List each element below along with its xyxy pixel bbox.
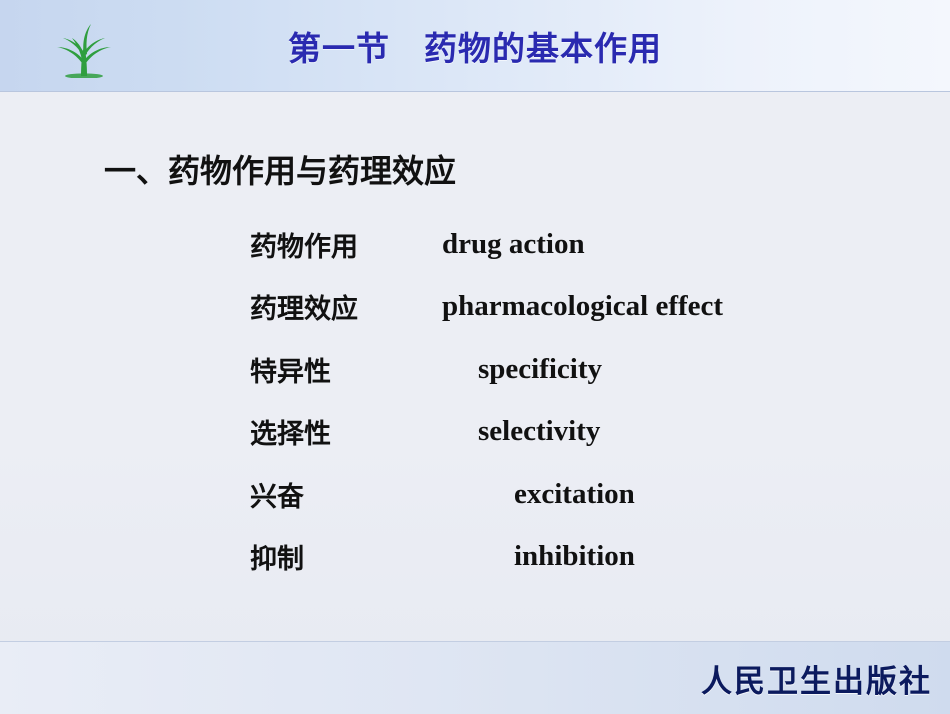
- slide-footer: 人民卫生出版社: [0, 641, 950, 714]
- term-row: 药理效应pharmacological effect: [250, 276, 890, 339]
- term-row: 药物作用drug action: [250, 213, 890, 276]
- term-chinese: 药物作用: [250, 225, 358, 264]
- term-english: inhibition: [514, 540, 635, 573]
- term-chinese: 抑制: [250, 537, 304, 576]
- slide: 第一节 药物的基本作用 一、药物作用与药理效应 药物作用drug action药…: [0, 0, 950, 713]
- term-chinese: 药理效应: [250, 287, 358, 326]
- term-row: 兴奋excitation: [250, 463, 890, 526]
- term-english: drug action: [442, 228, 585, 261]
- section-heading: 一、药物作用与药理效应: [104, 146, 456, 192]
- term-row: 抑制inhibition: [250, 526, 890, 589]
- term-chinese: 选择性: [250, 412, 331, 451]
- term-chinese: 兴奋: [250, 475, 304, 514]
- term-list: 药物作用drug action药理效应pharmacological effec…: [250, 213, 890, 588]
- term-row: 选择性selectivity: [250, 401, 890, 464]
- publisher-logo: 人民卫生出版社: [670, 654, 932, 702]
- term-english: selectivity: [478, 415, 600, 448]
- slide-header: 第一节 药物的基本作用: [0, 0, 950, 92]
- term-english: excitation: [514, 478, 635, 511]
- term-english: specificity: [478, 353, 602, 386]
- term-chinese: 特异性: [250, 350, 331, 389]
- term-row: 特异性specificity: [250, 338, 890, 401]
- slide-title: 第一节 药物的基本作用: [0, 0, 950, 91]
- slide-body: 一、药物作用与药理效应 药物作用drug action药理效应pharmacol…: [0, 91, 950, 641]
- term-english: pharmacological effect: [442, 290, 723, 323]
